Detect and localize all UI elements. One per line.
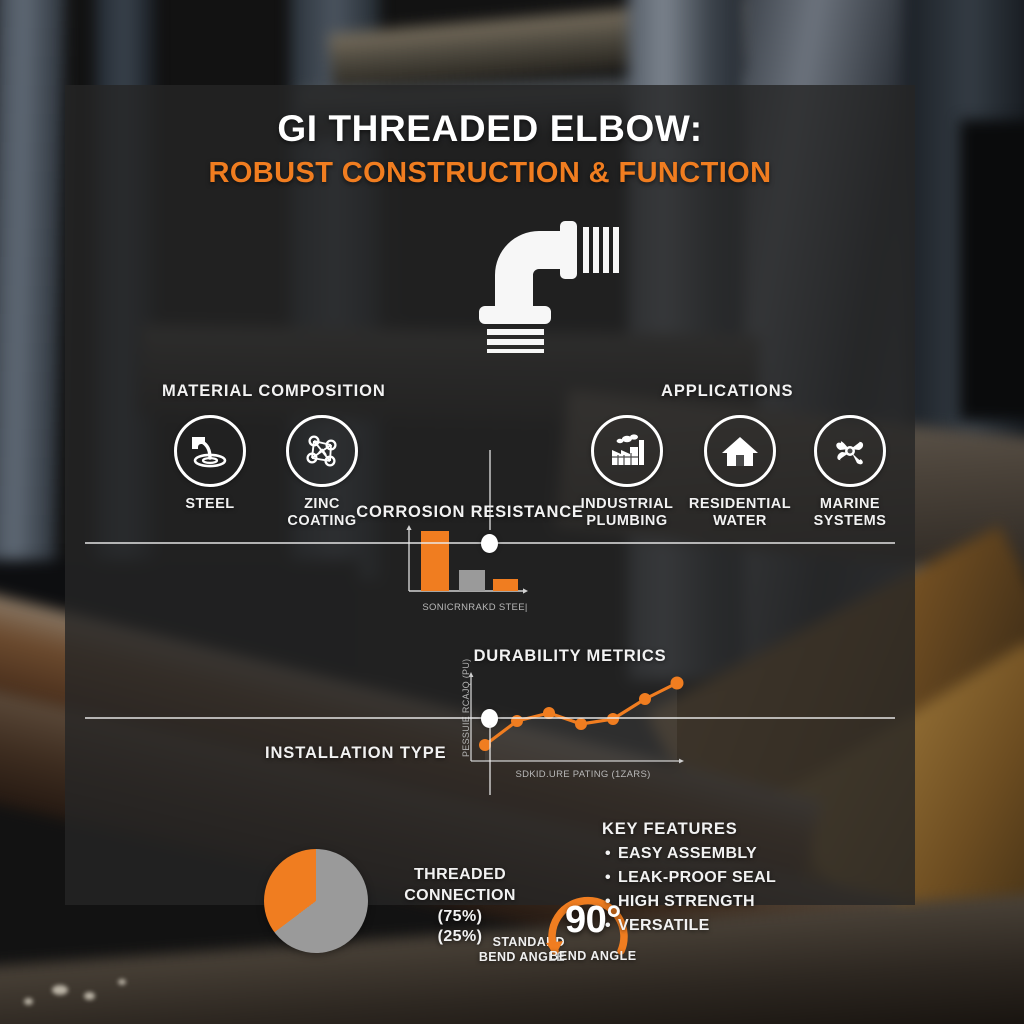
application-label-marine-systems: MARINE SYSTEMS (798, 496, 902, 529)
list-item: VERSATILE (605, 917, 776, 935)
industrial-icon-circle (591, 415, 663, 487)
list-item: LEAK-PROOF SEAL (605, 869, 776, 887)
bar-3 (493, 579, 518, 591)
factory-icon (605, 429, 649, 473)
pipe-elbow-icon (455, 203, 625, 353)
bg-steel-column (0, 0, 66, 620)
propeller-icon (828, 429, 872, 473)
bg-shadow-area (960, 120, 1024, 420)
bg-speck (84, 992, 95, 1000)
section-heading-material: MATERIAL COMPOSITION (162, 382, 386, 401)
molten-steel-pour-icon (188, 429, 232, 473)
molecule-structure-icon (300, 429, 344, 473)
durability-metrics-line-chart: PESSUIE RCAJQ (PU) SDKID.URE PATING (1ZA… (443, 671, 693, 783)
marine-icon-circle (814, 415, 886, 487)
list-item: EASY ASSEMBLY (605, 845, 776, 863)
divider-stem-bottom (489, 725, 491, 795)
application-item-marine-systems[interactable]: MARINE SYSTEMS (798, 415, 902, 529)
application-label-residential-water: RESIDENTIAL WATER (688, 496, 792, 529)
material-label-steel: STEEL (158, 496, 262, 513)
line-chart-plot (443, 671, 693, 783)
page-title: GI THREADED ELBOW: (65, 108, 915, 150)
steel-icon-circle (174, 415, 246, 487)
bar-2 (459, 570, 485, 591)
section-heading-applications: APPLICATIONS (661, 382, 793, 401)
bend-angle-caption: BEND ANGLE (533, 949, 653, 963)
bar-chart-xlabel: SONICRNRAKD STEE| (395, 602, 555, 613)
line-point (607, 713, 619, 725)
application-item-residential-water[interactable]: RESIDENTIAL WATER (688, 415, 792, 529)
title-block: GI THREADED ELBOW: ROBUST CONSTRUCTION &… (65, 108, 915, 190)
divider-node-upper (481, 534, 498, 553)
page-subtitle: ROBUST CONSTRUCTION & FUNCTION (65, 157, 915, 190)
residential-icon-circle (704, 415, 776, 487)
key-features-list: EASY ASSEMBLY LEAK-PROOF SEAL HIGH STREN… (605, 845, 776, 941)
line-point (639, 693, 651, 705)
installation-pie-chart (264, 849, 368, 953)
application-item-industrial-plumbing[interactable]: INDUSTRIAL PLUMBING (575, 415, 679, 529)
section-heading-installation: INSTALLATION TYPE (265, 744, 447, 763)
line-point (575, 718, 587, 730)
bar-1 (421, 531, 449, 591)
line-chart-xlabel: SDKID.URE PATING (1ZARS) (493, 769, 673, 780)
application-label-industrial-plumbing: INDUSTRIAL PLUMBING (575, 496, 679, 529)
house-icon (718, 429, 762, 473)
bg-speck (52, 985, 68, 995)
line-point (671, 677, 684, 690)
list-item: HIGH STRENGTH (605, 893, 776, 911)
zinc-icon-circle (286, 415, 358, 487)
corrosion-resistance-bar-chart (403, 525, 533, 603)
infographic-panel: GI THREADED ELBOW: ROBUST CONSTRUCTION &… (65, 85, 915, 905)
bg-speck (24, 998, 33, 1005)
material-item-steel[interactable]: STEEL (158, 415, 262, 513)
divider-stem-top (489, 450, 491, 530)
bg-speck (118, 979, 126, 985)
section-heading-key-features: KEY FEATURES (602, 820, 738, 839)
line-chart-ylabel: PESSUIE RCAJQ (PU) (461, 667, 471, 757)
